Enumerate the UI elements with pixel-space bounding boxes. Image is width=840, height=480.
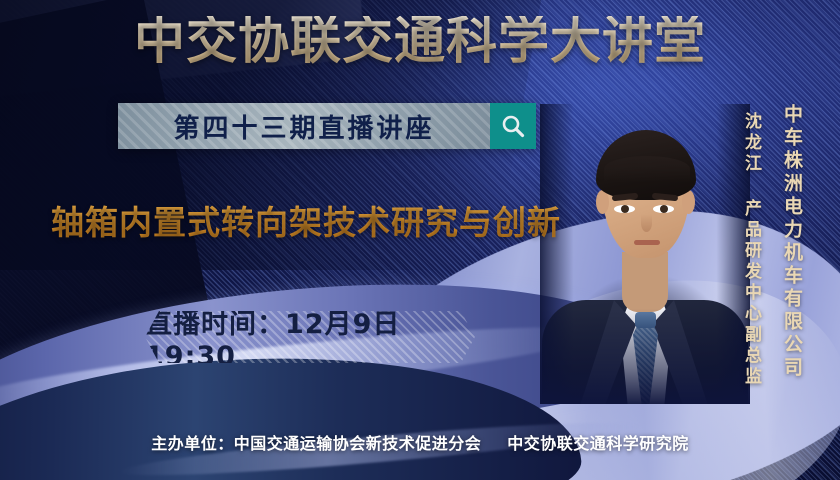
speaker-company: 中车株洲电力机车有限公司 xyxy=(779,104,806,380)
speaker-name-title: 沈龙江 产品研发中心副总监 xyxy=(739,112,764,388)
broadcast-time-badge: 直播时间：12月9日19:30 xyxy=(145,311,475,363)
speaker-portrait xyxy=(540,104,750,404)
episode-banner-body: 第四十三期直播讲座 xyxy=(118,103,490,149)
live-stream-poster: 中交协联交通科学大讲堂 第四十三期直播讲座 轴箱内置式转向架技术研究与创新 直播… xyxy=(0,0,840,480)
search-icon xyxy=(500,113,526,139)
lecture-topic: 轴箱内置式转向架技术研究与创新 xyxy=(26,196,586,244)
episode-label: 第四十三期直播讲座 xyxy=(173,108,434,145)
episode-banner[interactable]: 第四十三期直播讲座 xyxy=(118,103,536,149)
search-icon-box[interactable] xyxy=(490,103,536,149)
organizer-footer: 主办单位：中国交通运输协会新技术促进分会中交协联交通科学研究院 xyxy=(0,430,840,454)
poster-title: 中交协联交通科学大讲堂 xyxy=(0,16,840,67)
organizer-secondary: 中交协联交通科学研究院 xyxy=(507,434,689,453)
broadcast-time-text: 直播时间：12月9日19:30 xyxy=(145,302,475,372)
organizer-label: 主办单位： xyxy=(151,434,234,453)
portrait-edge-fade xyxy=(540,104,750,404)
organizer-primary: 中国交通运输协会新技术促进分会 xyxy=(234,434,482,453)
